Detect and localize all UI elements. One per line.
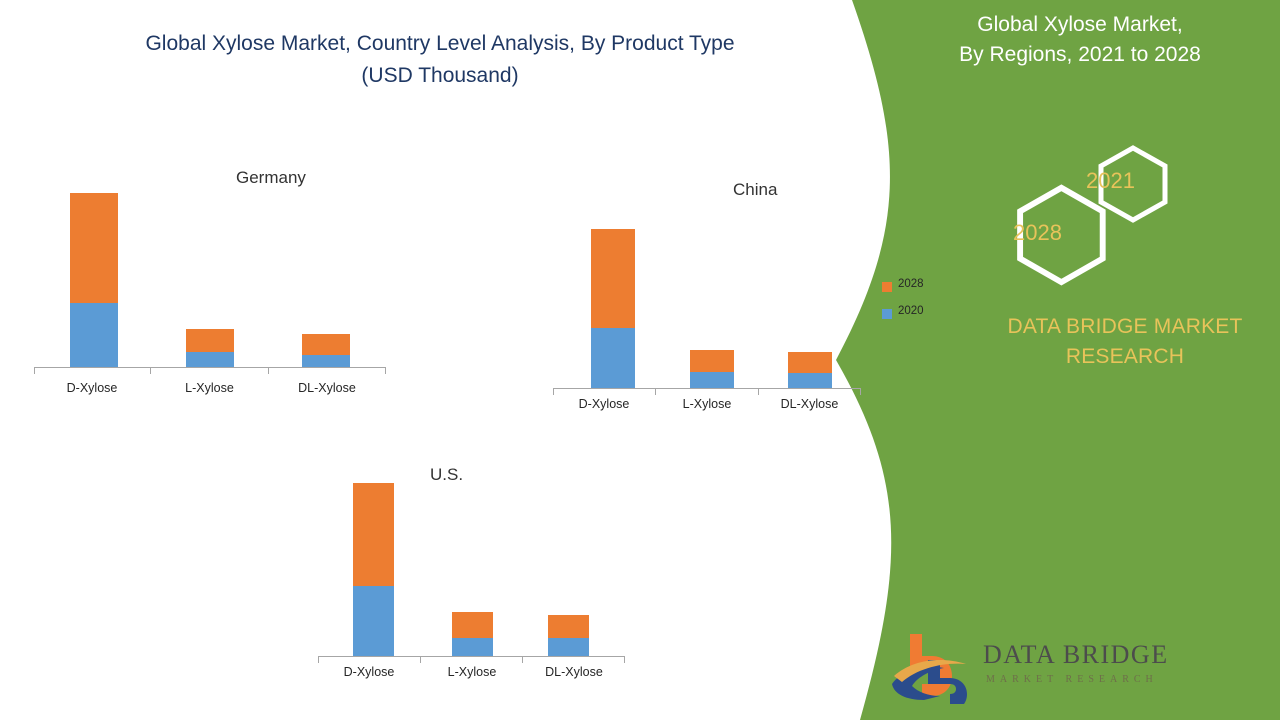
- axis-tick: [268, 368, 269, 374]
- legend-label-2028: 2028: [898, 277, 924, 292]
- hexagon-2028-label: 2028: [1013, 220, 1062, 246]
- hexagon-2021-label: 2021: [1086, 168, 1135, 194]
- x-label-germany-0: D-Xylose: [34, 381, 150, 395]
- x-label-us-1: L-Xylose: [421, 665, 523, 679]
- axis-tick: [150, 368, 151, 374]
- bar-china-dl-xylose: [788, 352, 832, 388]
- bar-segment-2020: [353, 586, 394, 656]
- data-bridge-logo: DATA BRIDGE MARKET RESEARCH: [888, 622, 1118, 714]
- chart-title-china: China: [733, 180, 777, 200]
- axis-tick: [420, 657, 421, 663]
- brand-title-line2: By Regions, 2021 to 2028: [915, 40, 1245, 70]
- axis-tick: [860, 389, 861, 395]
- x-label-germany-1: L-Xylose: [151, 381, 268, 395]
- bar-us-d-xylose: [353, 483, 394, 656]
- bar-germany-l-xylose: [186, 329, 234, 367]
- axis-tick: [522, 657, 523, 663]
- bar-segment-2020: [452, 638, 493, 656]
- brand-name-line1: DATA BRIDGE MARKET: [955, 312, 1280, 342]
- bar-us-dl-xylose: [548, 615, 589, 656]
- brand-name: DATA BRIDGE MARKET RESEARCH: [955, 312, 1280, 372]
- infographic-canvas: Global Xylose Market, By Regions, 2021 t…: [0, 0, 1280, 720]
- legend-swatch-2028: [882, 282, 892, 292]
- brand-title-line1: Global Xylose Market,: [915, 10, 1245, 40]
- axis-tick: [318, 657, 319, 663]
- axis-tick: [34, 368, 35, 374]
- bar-us-l-xylose: [452, 612, 493, 656]
- bar-segment-2028: [788, 352, 832, 373]
- bar-segment-2020: [548, 638, 589, 656]
- axis-tick: [624, 657, 625, 663]
- bar-segment-2028: [186, 329, 234, 352]
- bar-segment-2028: [452, 612, 493, 638]
- x-label-us-0: D-Xylose: [318, 665, 420, 679]
- logo-wordmark: DATA BRIDGE: [983, 640, 1169, 670]
- bar-segment-2020: [788, 373, 832, 388]
- x-label-china-2: DL-Xylose: [758, 397, 861, 411]
- legend-swatch-2020: [882, 309, 892, 319]
- x-axis-us: [318, 656, 625, 657]
- bar-germany-d-xylose: [70, 193, 118, 367]
- brand-panel-title: Global Xylose Market, By Regions, 2021 t…: [915, 10, 1245, 70]
- axis-tick: [758, 389, 759, 395]
- bar-segment-2028: [70, 193, 118, 303]
- bar-segment-2020: [70, 303, 118, 367]
- chart-panel-us: U.S. D-Xylose L-Xylose DL-Xylose: [280, 0, 700, 700]
- bar-segment-2028: [548, 615, 589, 638]
- legend-label-2020: 2020: [898, 304, 924, 319]
- year-hexagons: 2021 2028: [975, 140, 1195, 290]
- brand-name-line2: RESEARCH: [955, 342, 1280, 372]
- bar-segment-2028: [353, 483, 394, 586]
- x-label-us-2: DL-Xylose: [523, 665, 625, 679]
- bar-segment-2020: [186, 352, 234, 367]
- logo-mark-icon: [888, 626, 983, 706]
- logo-tagline: MARKET RESEARCH: [986, 674, 1158, 685]
- chart-title-us: U.S.: [430, 465, 463, 485]
